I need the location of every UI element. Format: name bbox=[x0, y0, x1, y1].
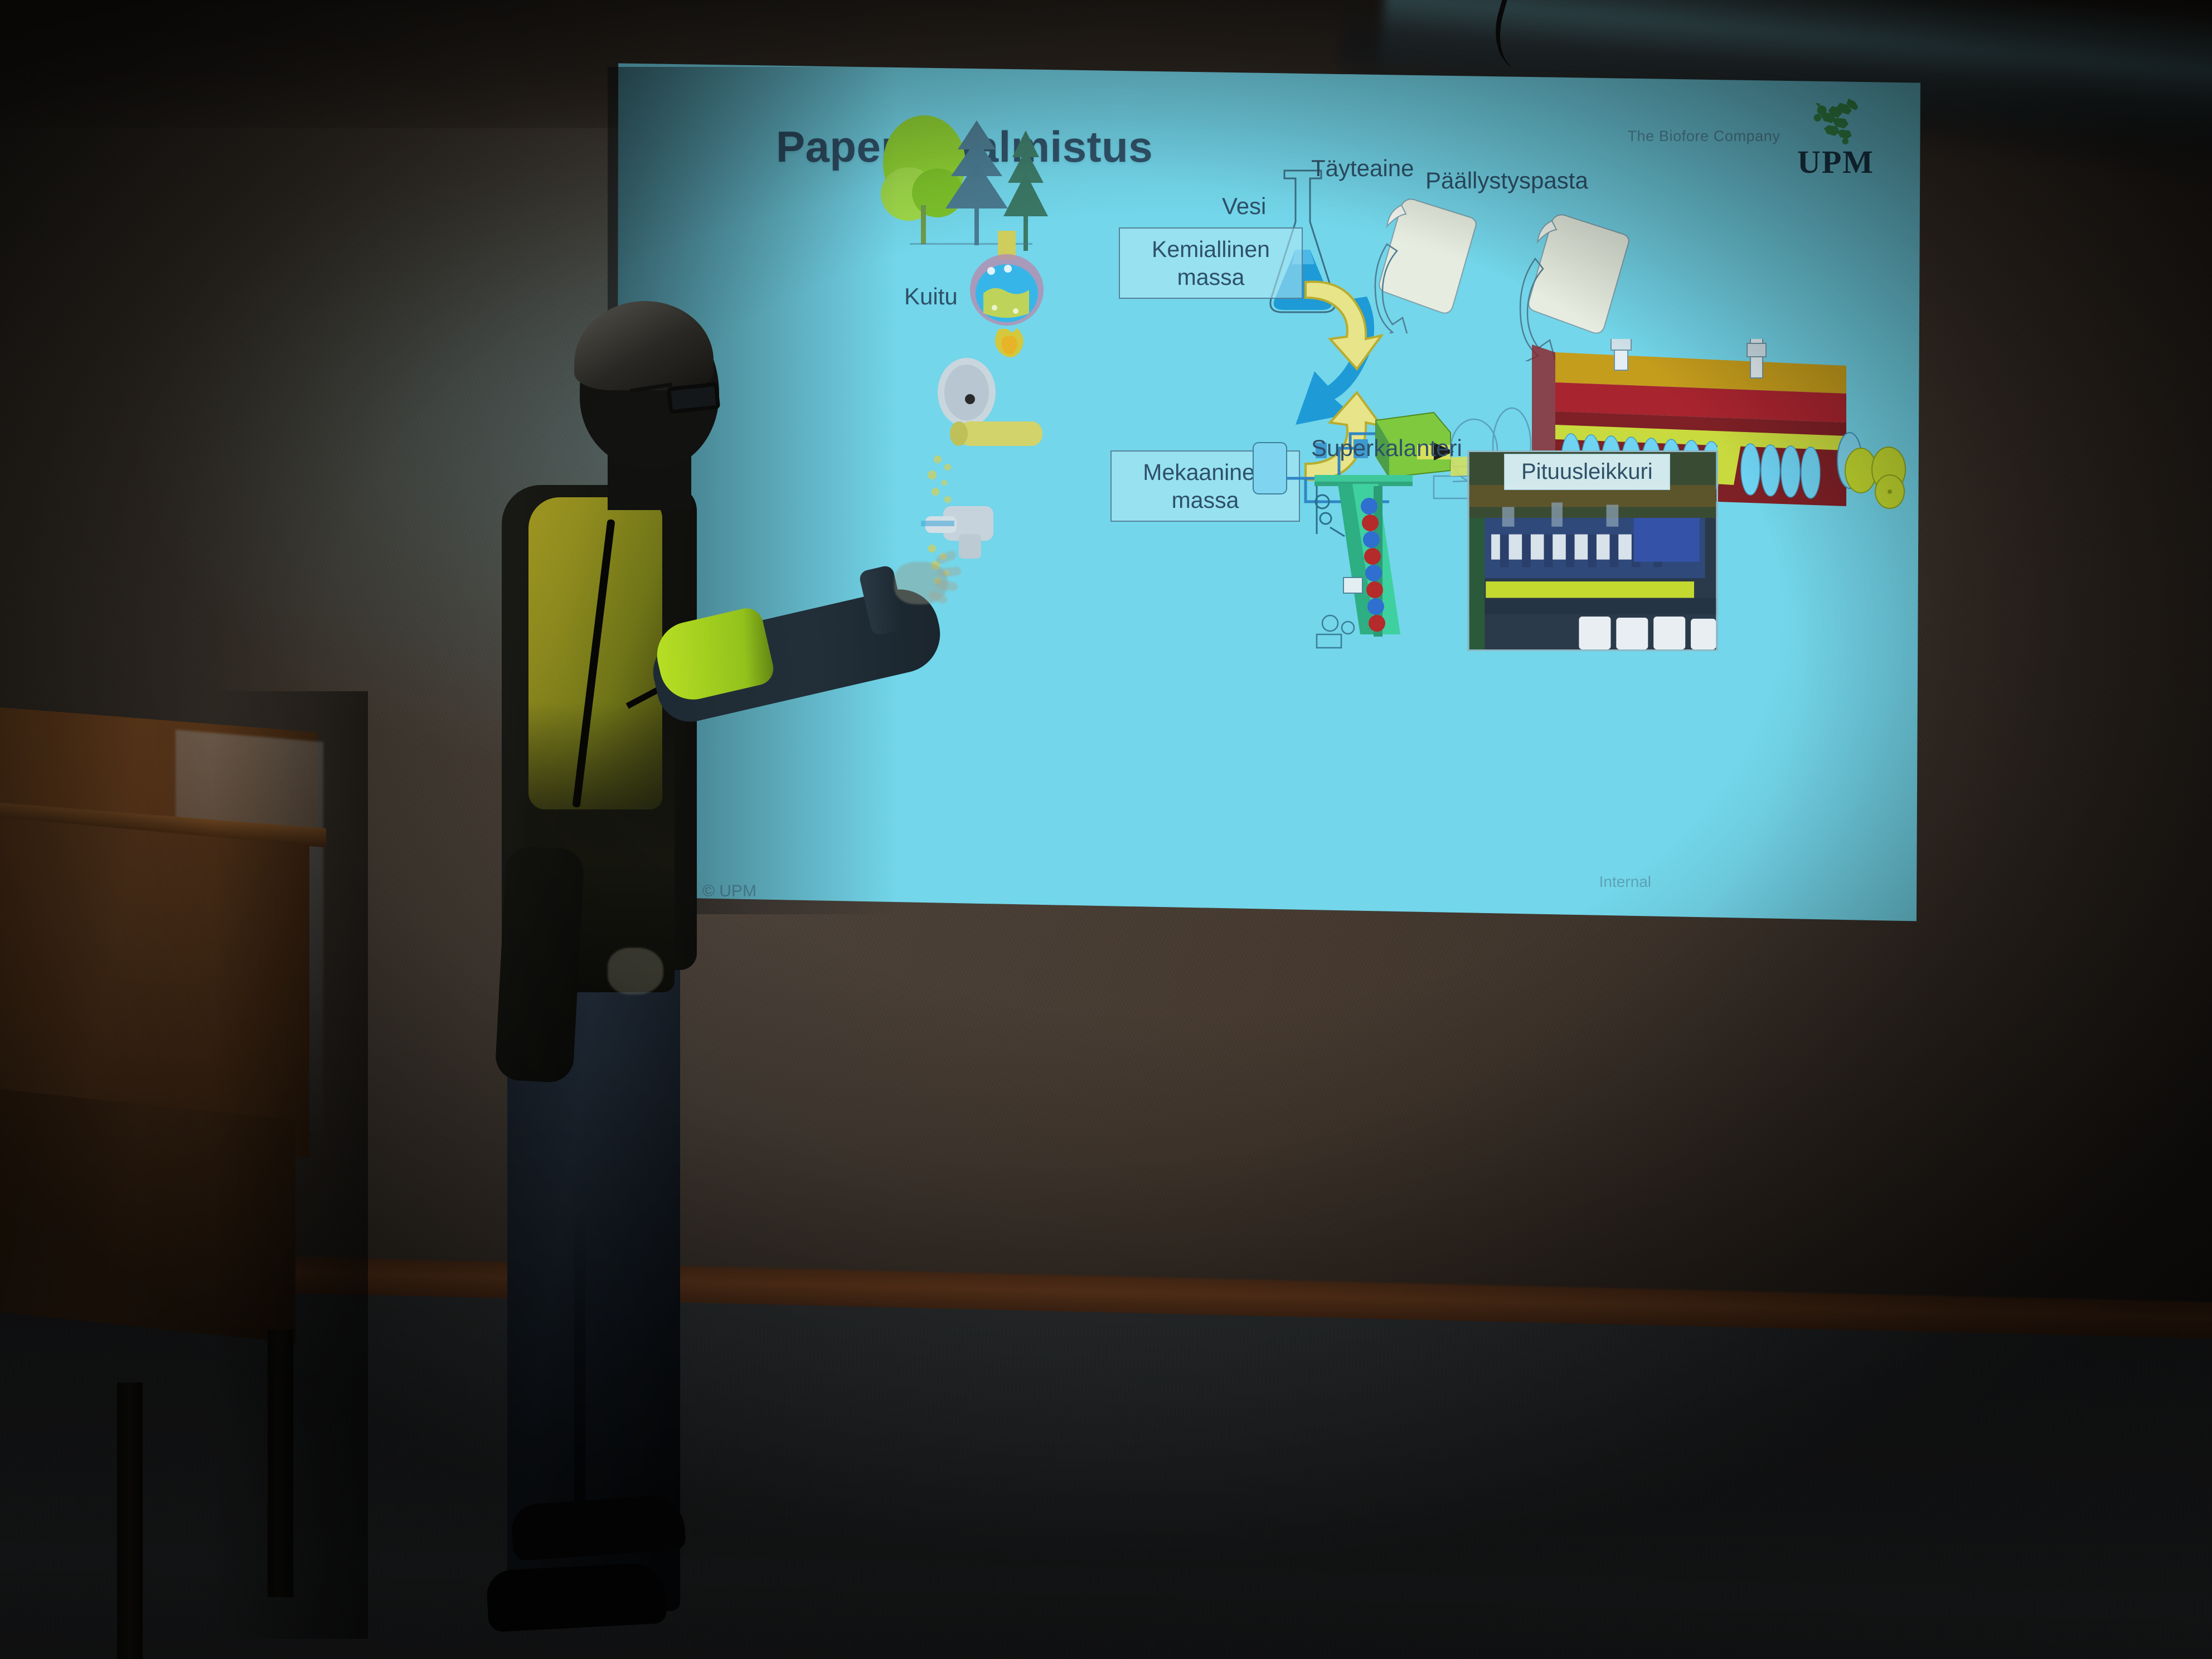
presenter-finger bbox=[934, 549, 957, 565]
lectern-leg-right bbox=[268, 1330, 293, 1597]
presenter-shoe-front bbox=[486, 1562, 667, 1633]
supercalender-illustration bbox=[1311, 467, 1445, 651]
upm-logo-block: The Biofore Company bbox=[1627, 94, 1874, 178]
label-winder: Pituusleikkuri bbox=[1504, 454, 1670, 490]
label-mechanical-pulp-text: Mekaaninen massa bbox=[1143, 459, 1267, 513]
presenter-pointing-hand bbox=[884, 541, 957, 613]
presenter-lower-palm bbox=[608, 948, 663, 995]
slide-footer-right: Internal bbox=[1599, 873, 1651, 891]
upm-griffin-icon bbox=[1809, 94, 1862, 148]
label-chemical-pulp: Kemiallinen massa bbox=[1119, 227, 1303, 299]
presenter-silhouette bbox=[491, 301, 836, 1605]
filler-bag-illustration bbox=[1350, 188, 1495, 333]
label-filler: Täyteaine bbox=[1311, 155, 1414, 182]
label-chemical-pulp-text: Kemiallinen massa bbox=[1152, 236, 1270, 290]
coating-paste-bag-illustration bbox=[1501, 205, 1651, 361]
lectern-lower-panel bbox=[0, 1088, 295, 1343]
label-water: Vesi bbox=[1222, 193, 1266, 220]
label-fiber: Kuitu bbox=[904, 283, 958, 310]
label-supercalender: Superkalanteri bbox=[1311, 435, 1462, 462]
lectern-leg-left bbox=[117, 1382, 143, 1659]
upm-wordmark: UPM bbox=[1797, 144, 1874, 180]
presenter-leg-separation bbox=[574, 1204, 585, 1550]
glasses-icon bbox=[667, 382, 721, 414]
flask-over-flame-illustration bbox=[954, 227, 1060, 372]
grinder-and-log-illustration bbox=[926, 356, 1055, 462]
upm-logo: UPM bbox=[1797, 94, 1874, 178]
photo-scene: Paperin valmistus The Biofore Company bbox=[0, 0, 2212, 1659]
presenter-lower-hand bbox=[602, 937, 672, 1009]
biofore-tagline: The Biofore Company bbox=[1627, 128, 1780, 145]
wooden-lectern bbox=[0, 719, 351, 1589]
presenter-near-arm bbox=[494, 846, 585, 1084]
presenter-hair bbox=[574, 301, 714, 390]
